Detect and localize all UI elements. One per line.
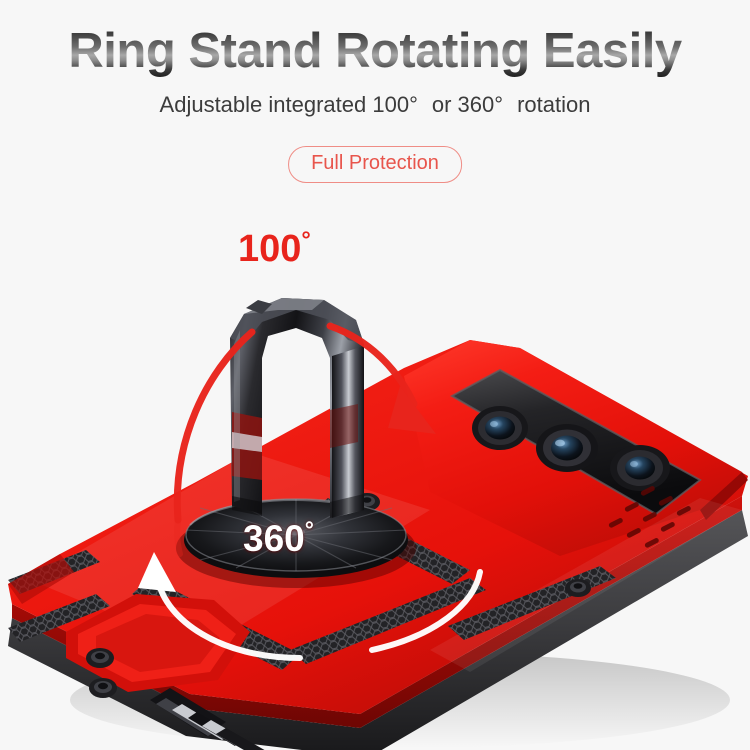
camera-lens-3 <box>610 445 670 491</box>
rotation-angle-value: 360 <box>243 518 305 559</box>
tilt-angle-value: 100 <box>238 228 301 270</box>
tilt-angle-label: 100° <box>238 228 311 271</box>
degree-symbol-100: ° <box>409 92 418 117</box>
page-title: Ring Stand Rotating Easily <box>0 26 750 78</box>
header: Ring Stand Rotating Easily Adjustable in… <box>0 0 750 190</box>
degree-symbol-360: ° <box>494 92 503 117</box>
tilt-angle-degree: ° <box>301 226 310 252</box>
product-image <box>0 180 750 750</box>
bolt-screw <box>89 678 117 698</box>
bolt-screw <box>565 579 591 597</box>
page-subtitle: Adjustable integrated 100°or 360°rotatio… <box>0 92 750 118</box>
phone-case-illustration <box>0 180 750 750</box>
camera-lens-1 <box>472 406 528 450</box>
bolt-screw <box>86 648 114 668</box>
camera-lens-2 <box>536 424 598 472</box>
subtitle-segment-one: Adjustable integrated 100 <box>160 92 410 117</box>
tilt-arc-left-fade <box>177 520 180 554</box>
subtitle-segment-three: rotation <box>517 92 590 117</box>
rotation-angle-degree: ° <box>305 517 314 543</box>
status-badge: Full Protection <box>288 146 462 183</box>
subtitle-segment-two: or 360 <box>432 92 494 117</box>
rotation-angle-label: 360° <box>243 518 314 560</box>
